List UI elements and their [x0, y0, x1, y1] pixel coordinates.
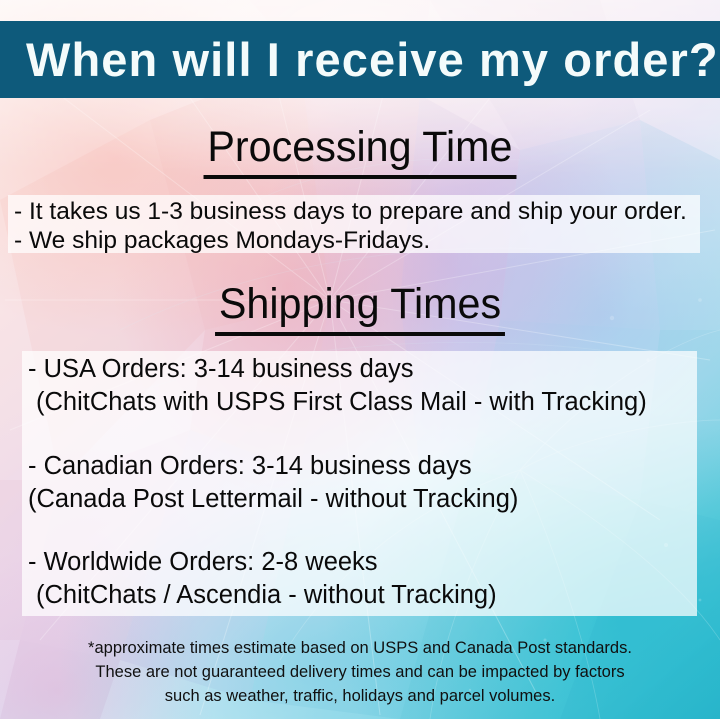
shipping-group-canada: - Canadian Orders: 3-14 business days (C…	[28, 450, 518, 516]
footnote-line-2: These are not guaranteed delivery times …	[0, 660, 720, 684]
shipping-times-heading: Shipping Times	[0, 283, 720, 336]
shipping-usa-line-1: - USA Orders: 3-14 business days	[28, 353, 647, 386]
footnote-line-3: such as weather, traffic, holidays and p…	[0, 684, 720, 708]
shipping-times-heading-text: Shipping Times	[215, 283, 505, 336]
shipping-usa-line-2: (ChitChats with USPS First Class Mail - …	[28, 386, 647, 419]
processing-line-1: - It takes us 1-3 business days to prepa…	[14, 197, 687, 226]
shipping-canada-line-1: - Canadian Orders: 3-14 business days	[28, 450, 518, 483]
shipping-canada-line-2: (Canada Post Lettermail - without Tracki…	[28, 483, 518, 516]
shipping-worldwide-line-1: - Worldwide Orders: 2-8 weeks	[28, 546, 497, 579]
title-banner: When will I receive my order?	[0, 21, 720, 98]
page-title: When will I receive my order?	[0, 36, 719, 83]
shipping-group-usa: - USA Orders: 3-14 business days (ChitCh…	[28, 353, 647, 419]
poster-content: When will I receive my order? Processing…	[0, 0, 720, 719]
processing-time-heading-text: Processing Time	[204, 126, 517, 179]
processing-line-2: - We ship packages Mondays-Fridays.	[14, 226, 687, 255]
shipping-group-worldwide: - Worldwide Orders: 2-8 weeks (ChitChats…	[28, 546, 497, 612]
processing-time-body: - It takes us 1-3 business days to prepa…	[14, 197, 687, 255]
processing-time-heading: Processing Time	[0, 126, 720, 179]
footnote-line-1: *approximate times estimate based on USP…	[0, 636, 720, 660]
shipping-worldwide-line-2: (ChitChats / Ascendia - without Tracking…	[28, 579, 497, 612]
footnote-disclaimer: *approximate times estimate based on USP…	[0, 636, 720, 708]
shipping-info-poster: When will I receive my order? Processing…	[0, 0, 720, 719]
